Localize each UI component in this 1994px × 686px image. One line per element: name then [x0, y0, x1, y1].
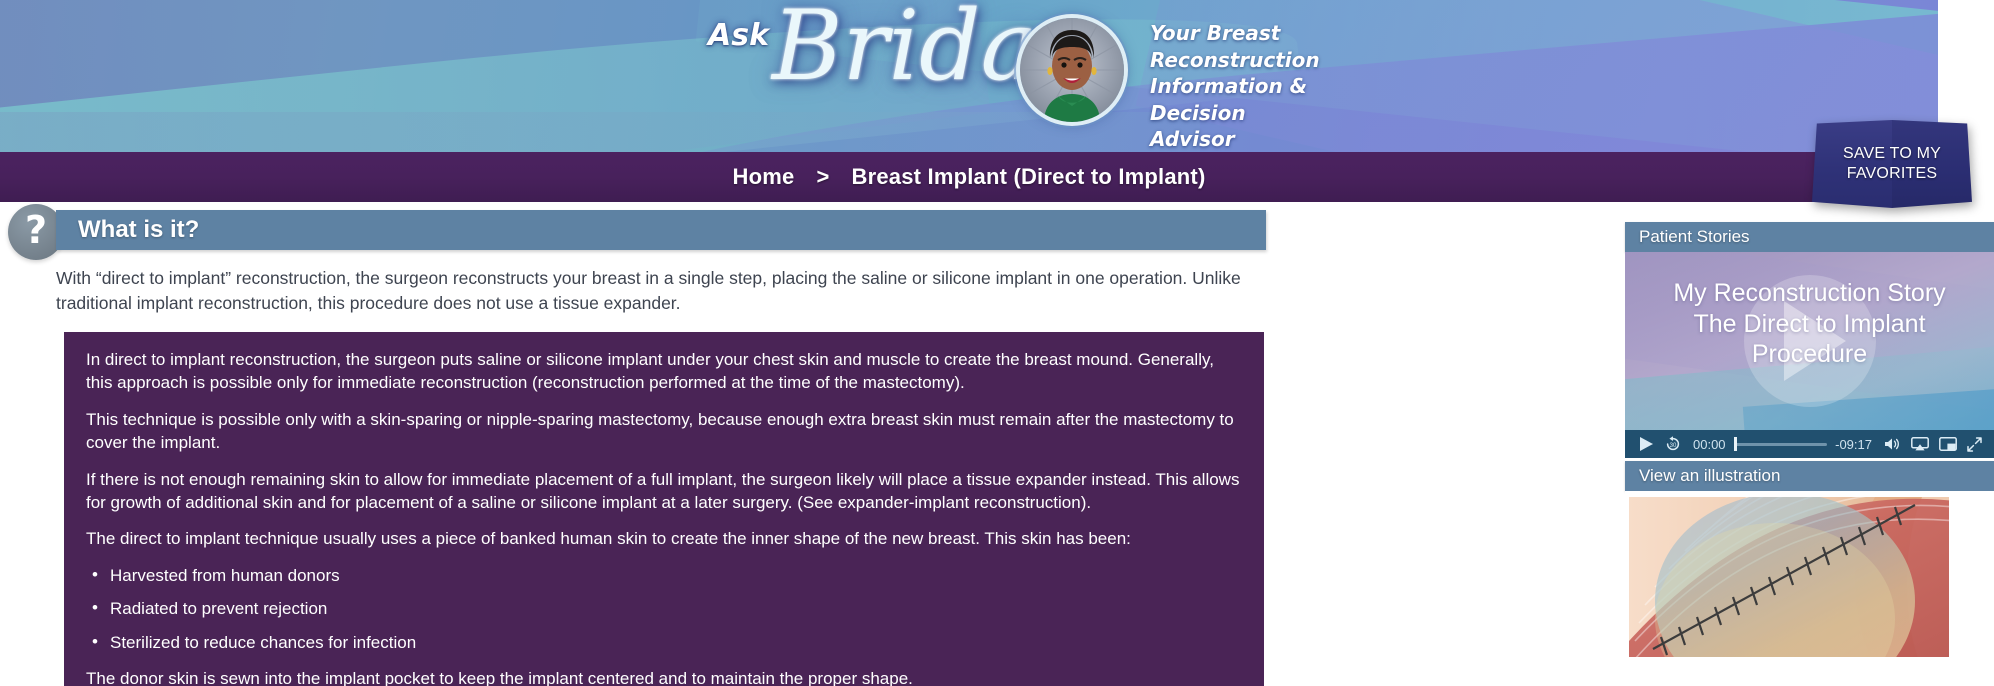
video-scrubber[interactable] [1734, 437, 1828, 451]
right-sidebar: Patient Stories My Reconstruction Story … [1625, 222, 1994, 682]
play-button[interactable] [1633, 437, 1659, 451]
video-title: My Reconstruction Story The Direct to Im… [1625, 278, 1994, 370]
breadcrumb-home-link[interactable]: Home [733, 164, 795, 190]
breadcrumb-current-page: Breast Implant (Direct to Implant) [852, 164, 1206, 190]
svg-text:30: 30 [1670, 443, 1677, 449]
page-root: Ask Brida [0, 0, 1994, 686]
list-item: Radiated to prevent rejection [110, 597, 1242, 620]
highlight-bullet-list: Harvested from human donors Radiated to … [86, 564, 1242, 654]
video-control-bar[interactable]: 30 00:00 -09:17 [1625, 430, 1994, 458]
section-header-row: ? What is it? [0, 210, 1280, 252]
favorites-label-line1: SAVE TO MY [1843, 144, 1941, 164]
video-current-time: 00:00 [1693, 437, 1726, 452]
illustration-title: View an illustration [1639, 466, 1780, 486]
favorites-label: SAVE TO MY FAVORITES [1812, 120, 1972, 208]
breadcrumb-separator-icon: > [816, 164, 829, 190]
scrubber-track [1734, 443, 1828, 446]
highlight-paragraph-2: This technique is possible only with a s… [86, 408, 1242, 455]
airplay-icon[interactable] [1906, 437, 1934, 451]
picture-in-picture-icon[interactable] [1934, 437, 1962, 451]
video-remaining-time: -09:17 [1835, 437, 1872, 452]
list-item: Sterilized to reduce chances for infecti… [110, 631, 1242, 654]
patient-stories-title: Patient Stories [1639, 227, 1750, 247]
fullscreen-icon[interactable] [1962, 437, 1986, 452]
main-content: ? What is it? With “direct to implant” r… [0, 210, 1280, 686]
save-to-favorites-button[interactable]: SAVE TO MY FAVORITES [1812, 120, 1972, 208]
section-header-bar: What is it? [56, 210, 1266, 250]
highlight-paragraph-4: The direct to implant technique usually … [86, 527, 1242, 550]
highlight-paragraph-5: The donor skin is sewn into the implant … [86, 667, 1242, 686]
illustration-header: View an illustration [1625, 461, 1994, 491]
highlight-paragraph-1: In direct to implant reconstruction, the… [86, 348, 1242, 395]
scrubber-handle[interactable] [1734, 437, 1737, 451]
site-tagline: Your Breast Reconstruction Information &… [1150, 20, 1320, 152]
highlight-paragraph-3: If there is not enough remaining skin to… [86, 468, 1242, 515]
illustration-image[interactable] [1625, 491, 1994, 682]
patient-story-video[interactable]: My Reconstruction Story The Direct to Im… [1625, 252, 1994, 430]
site-banner: Ask Brida [0, 0, 1938, 152]
favorites-label-line2: FAVORITES [1847, 164, 1937, 184]
breadcrumb: Home > Breast Implant (Direct to Implant… [0, 152, 1938, 202]
skip-back-30-icon[interactable]: 30 [1659, 436, 1687, 452]
section-title: What is it? [78, 216, 199, 244]
logo-brand-text: Brida [772, 0, 1038, 94]
highlight-box: In direct to implant reconstruction, the… [64, 332, 1264, 686]
list-item: Harvested from human donors [110, 564, 1242, 587]
section-intro-text: With “direct to implant” reconstruction,… [56, 266, 1256, 316]
volume-icon[interactable] [1880, 437, 1906, 451]
brida-avatar-icon [1020, 18, 1124, 122]
site-logo[interactable]: Ask Brida [700, 4, 1260, 144]
logo-ask-text: Ask [708, 18, 769, 53]
patient-stories-header: Patient Stories [1625, 222, 1994, 252]
